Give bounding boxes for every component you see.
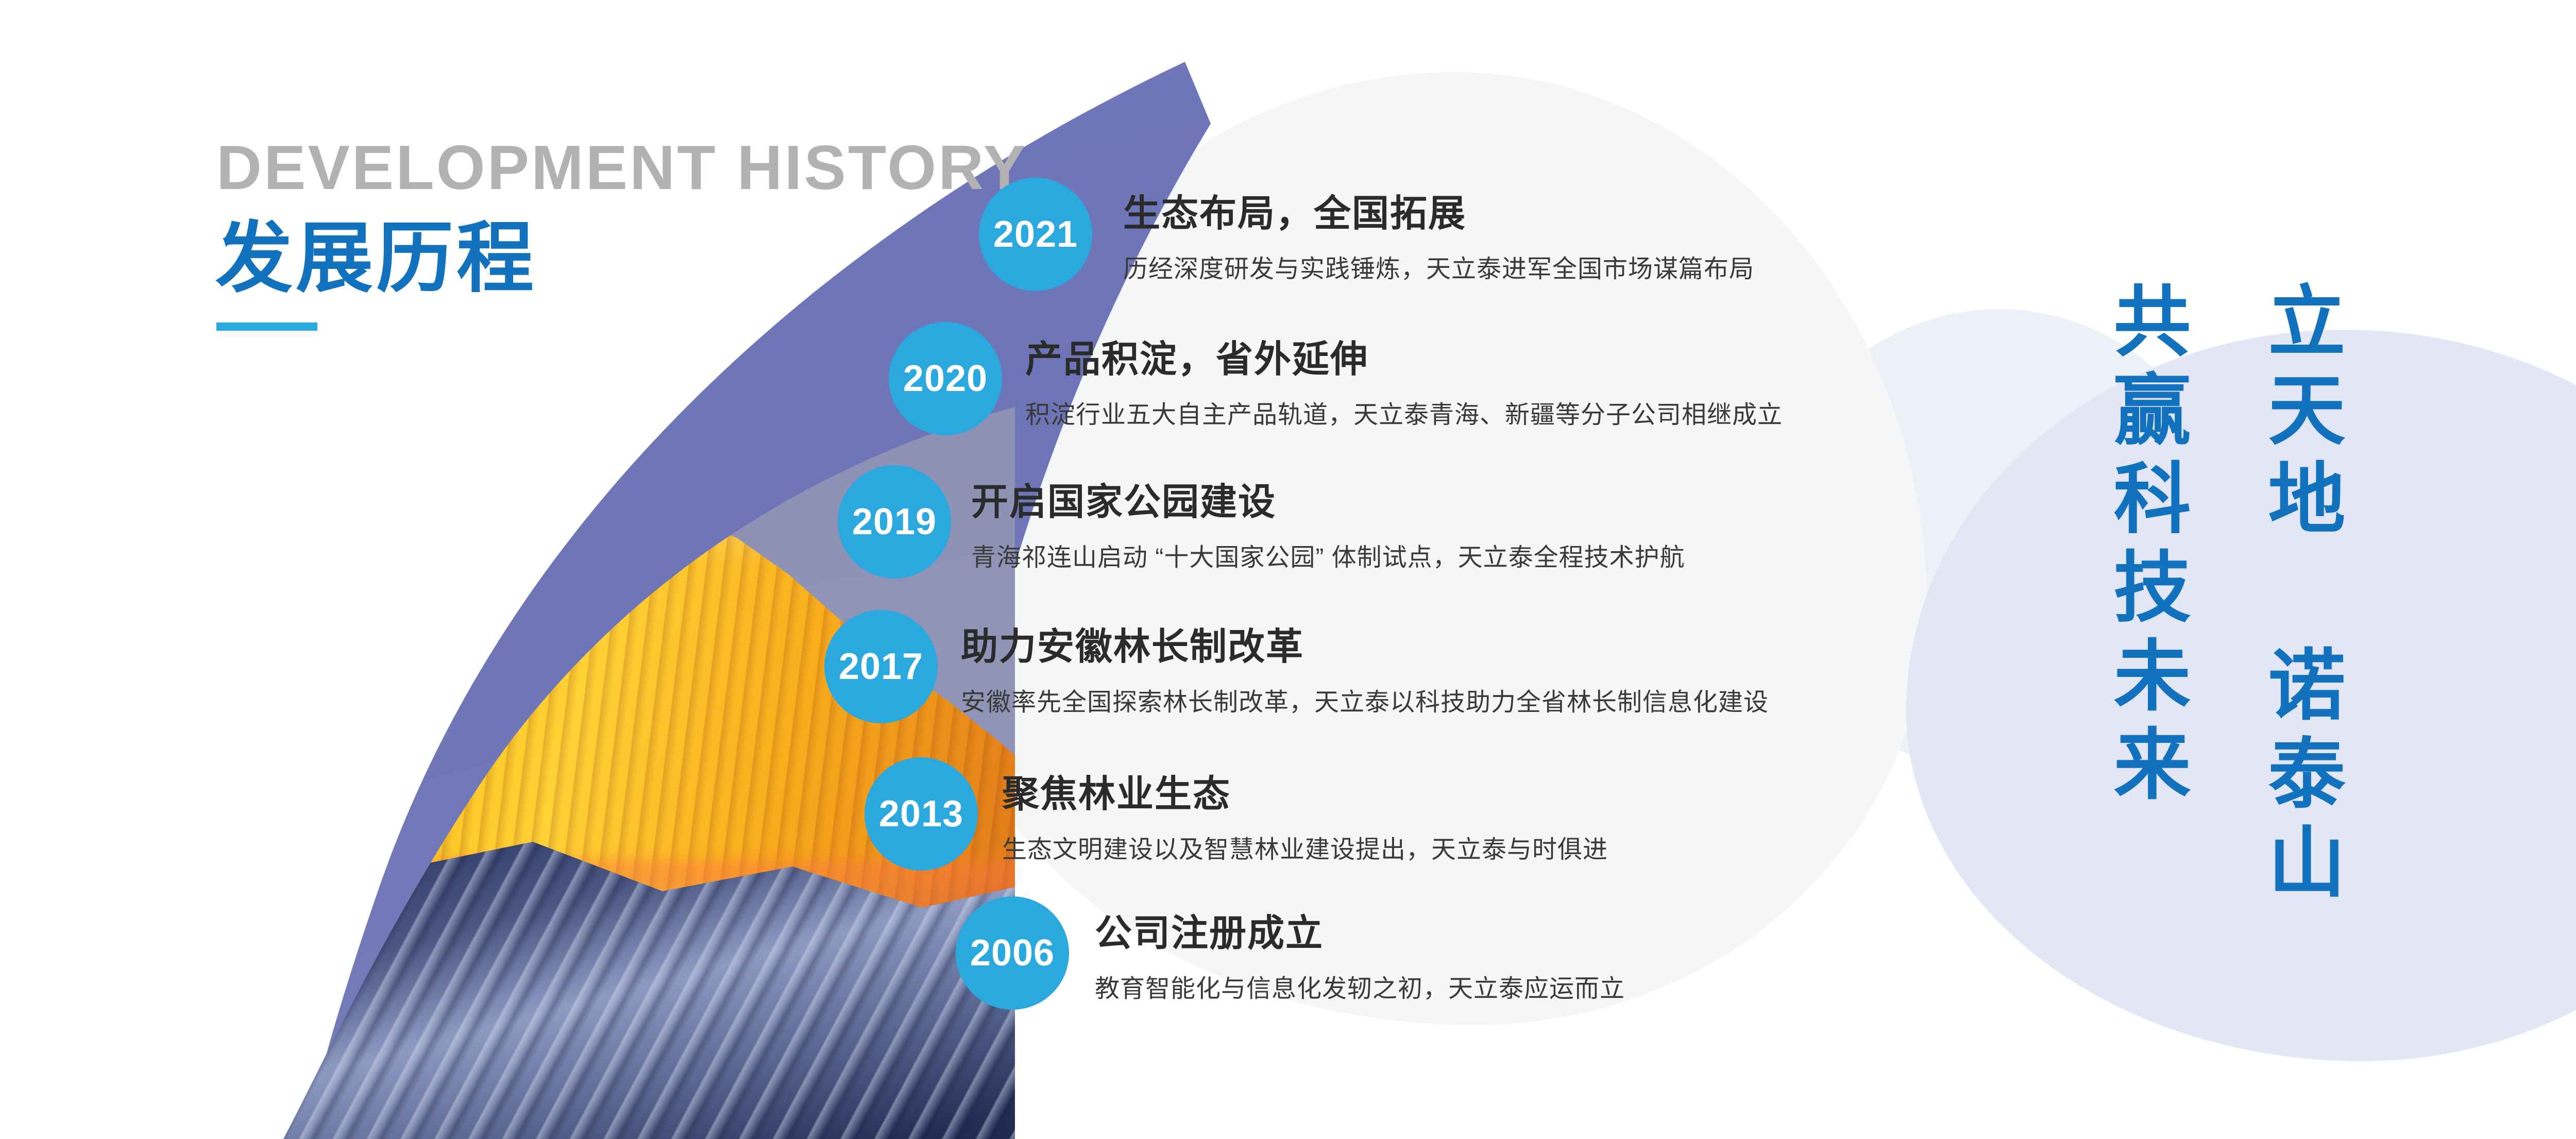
timeline-title: 助力安徽林长制改革 <box>961 616 1769 670</box>
timeline-year-badge[interactable]: 2013 <box>865 757 978 871</box>
timeline-title: 生态布局，全国拓展 <box>1123 183 1754 237</box>
timeline-description: 生态文明建设以及智慧林业建设提出，天立泰与时俱进 <box>1002 829 1608 865</box>
timeline-text-block: 开启国家公园建设 青海祁连山启动 “十大国家公园” 体制试点，天立泰全程技术护航 <box>971 471 1685 573</box>
timeline-title: 公司注册成立 <box>1095 903 1625 957</box>
slide-canvas: DEVELOPMENT HISTORY 发展历程 2021 生态布局，全国拓展 … <box>0 0 2576 1139</box>
timeline-year-badge[interactable]: 2021 <box>979 178 1092 291</box>
timeline-text-block: 聚焦林业生态 生态文明建设以及智慧林业建设提出，天立泰与时俱进 <box>1002 763 1608 865</box>
page-eyebrow: DEVELOPMENT HISTORY <box>216 131 1027 203</box>
title-underline-rule <box>216 322 317 331</box>
timeline-title: 产品积淀，省外延伸 <box>1025 329 1783 383</box>
timeline-text-block: 生态布局，全国拓展 历经深度研发与实践锤炼，天立泰进军全国市场谋篇布局 <box>1123 183 1754 284</box>
timeline-year-badge[interactable]: 2020 <box>889 322 1002 435</box>
slogan-column-left: 共赢科技未来 <box>2107 281 2184 812</box>
timeline-title: 开启国家公园建设 <box>971 471 1685 525</box>
timeline-text-block: 公司注册成立 教育智能化与信息化发轫之初，天立泰应运而立 <box>1095 903 1625 1004</box>
timeline-title: 聚焦林业生态 <box>1002 763 1608 818</box>
timeline-year-badge[interactable]: 2006 <box>956 896 1069 1010</box>
timeline-year-badge[interactable]: 2017 <box>824 610 938 723</box>
timeline-description: 青海祁连山启动 “十大国家公园” 体制试点，天立泰全程技术护航 <box>971 537 1685 573</box>
timeline-description: 教育智能化与信息化发轫之初，天立泰应运而立 <box>1095 968 1625 1004</box>
slogan-column-right: 立天地 诺泰山 <box>2262 281 2339 910</box>
page-title: 发展历程 <box>215 196 537 308</box>
timeline-description: 积淀行业五大自主产品轨道，天立泰青海、新疆等分子公司相继成立 <box>1025 394 1783 430</box>
timeline-year-badge[interactable]: 2019 <box>838 465 951 579</box>
timeline-description: 安徽率先全国探索林长制改革，天立泰以科技助力全省林长制信息化建设 <box>961 682 1769 718</box>
timeline-text-block: 产品积淀，省外延伸 积淀行业五大自主产品轨道，天立泰青海、新疆等分子公司相继成立 <box>1025 329 1783 430</box>
timeline-text-block: 助力安徽林长制改革 安徽率先全国探索林长制改革，天立泰以科技助力全省林长制信息化… <box>961 616 1769 718</box>
timeline-description: 历经深度研发与实践锤炼，天立泰进军全国市场谋篇布局 <box>1123 248 1754 284</box>
